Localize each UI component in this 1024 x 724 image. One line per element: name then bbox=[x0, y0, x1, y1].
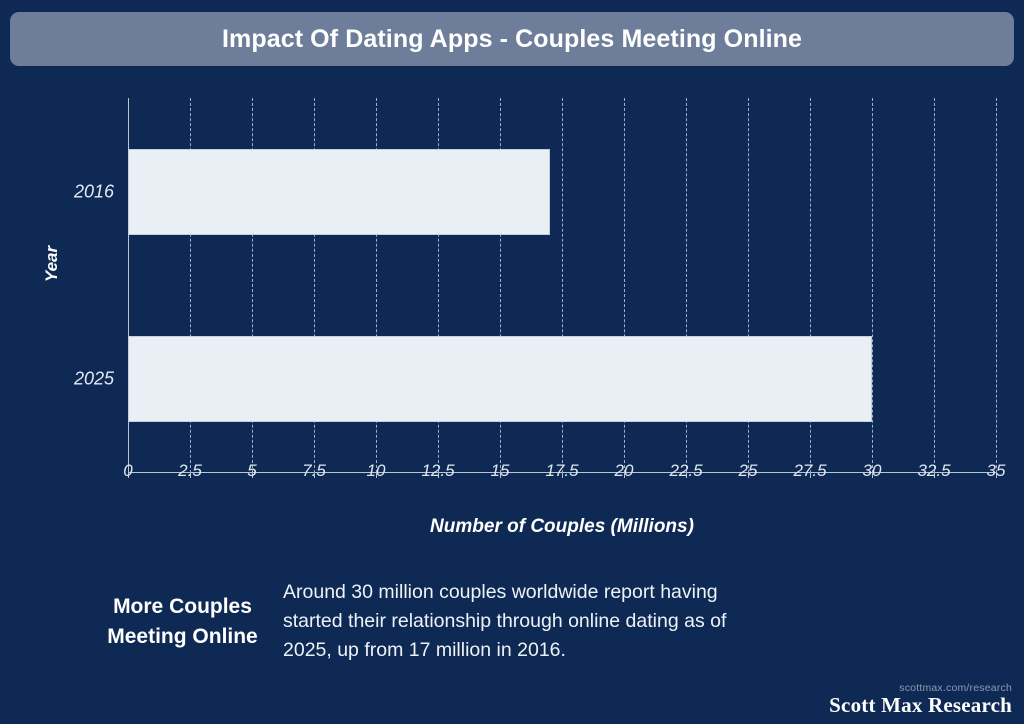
footer-branding: scottmax.com/research Scott Max Research bbox=[829, 682, 1012, 718]
caption-headline-line-1: More Couples bbox=[100, 592, 265, 622]
x-axis-tick-label: 30 bbox=[863, 461, 882, 481]
x-axis-tick-label: 0 bbox=[123, 461, 132, 481]
y-axis-tick-labels: 20162025 bbox=[0, 98, 128, 473]
gridline bbox=[934, 98, 935, 473]
x-axis-tick-label: 5 bbox=[247, 461, 256, 481]
x-axis-tick-label: 20 bbox=[615, 461, 634, 481]
caption-body-text: Around 30 million couples worldwide repo… bbox=[283, 578, 773, 665]
chart-container: Year 20162025 02.557.51012.51517.52022.5… bbox=[0, 78, 1024, 558]
x-axis-tick-label: 17.5 bbox=[545, 461, 578, 481]
bar bbox=[128, 336, 872, 422]
y-axis-tick-label: 2025 bbox=[74, 369, 114, 390]
caption-block: More Couples Meeting Online Around 30 mi… bbox=[0, 578, 1024, 665]
page-title: Impact Of Dating Apps - Couples Meeting … bbox=[222, 25, 802, 54]
x-axis-tick-label: 35 bbox=[987, 461, 1006, 481]
y-axis-tick-label: 2016 bbox=[74, 181, 114, 202]
x-axis-tick-label: 32.5 bbox=[917, 461, 950, 481]
x-axis-tick-label: 27.5 bbox=[793, 461, 826, 481]
x-axis-tick-label: 7.5 bbox=[302, 461, 326, 481]
x-axis-tick-label: 10 bbox=[367, 461, 386, 481]
gridline bbox=[996, 98, 997, 473]
chart-title-banner: Impact Of Dating Apps - Couples Meeting … bbox=[10, 12, 1014, 66]
bar bbox=[128, 149, 550, 235]
footer-brand-name: Scott Max Research bbox=[829, 693, 1012, 718]
x-axis-title: Number of Couples (Millions) bbox=[128, 516, 996, 538]
x-axis-tick-label: 22.5 bbox=[669, 461, 702, 481]
gridline bbox=[872, 98, 873, 473]
caption-headline: More Couples Meeting Online bbox=[0, 578, 265, 653]
x-axis-tick-label: 15 bbox=[491, 461, 510, 481]
x-axis-tick-label: 25 bbox=[739, 461, 758, 481]
x-axis-tick-label: 12.5 bbox=[421, 461, 454, 481]
plot-area bbox=[128, 98, 996, 473]
caption-headline-line-2: Meeting Online bbox=[100, 622, 265, 652]
x-axis-tick-label: 2.5 bbox=[178, 461, 202, 481]
